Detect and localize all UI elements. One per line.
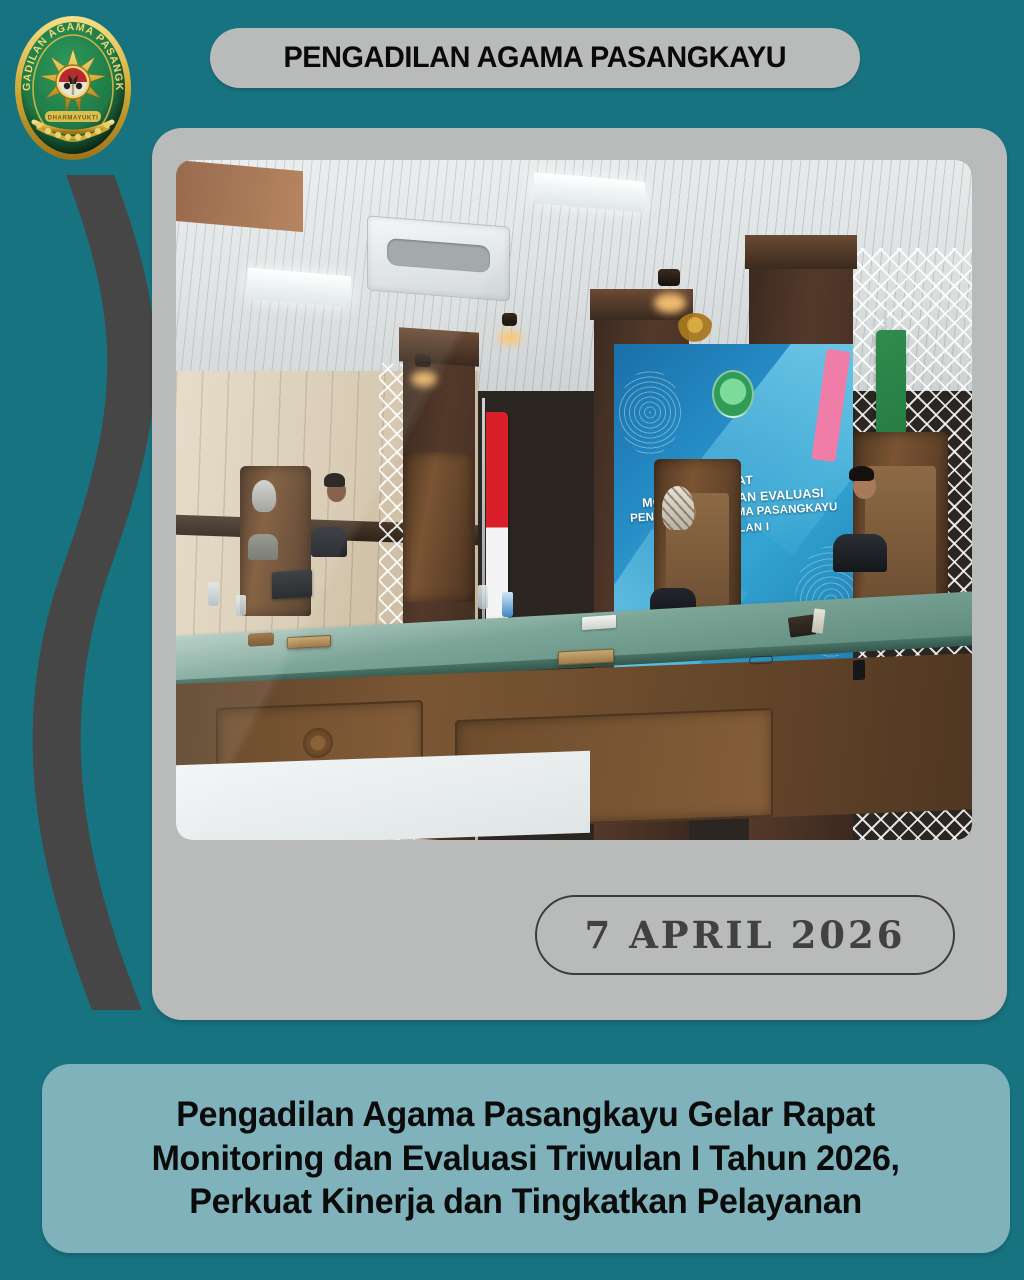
event-photo: RAPAT MONITORING DAN EVALUASI PENGADILAN… [176,160,972,840]
court-logo: PENGADILAN AGAMA PASANGKAYU [12,10,134,162]
date-text: 7 APRIL 2026 [584,913,905,957]
banner-logo-icon [712,370,754,418]
phone-icon [853,659,865,680]
caption-panel: Pengadilan Agama Pasangkayu Gelar Rapat … [42,1064,1010,1253]
caption-text: Pengadilan Agama Pasangkayu Gelar Rapat … [127,1093,926,1223]
caption-line-3: Perkuat Kinerja dan Tingkatkan Pelayanan [152,1180,900,1223]
garuda-emblem-icon [677,313,713,343]
caption-line-2: Monitoring dan Evaluasi Triwulan I Tahun… [152,1137,900,1180]
caption-line-1: Pengadilan Agama Pasangkayu Gelar Rapat [152,1093,900,1136]
wave-decoration [30,175,160,1010]
laptop-icon [272,570,312,600]
page-title: PENGADILAN AGAMA PASANGKAYU [284,41,787,75]
header-title-pill: PENGADILAN AGAMA PASANGKAYU [210,28,860,88]
date-badge: 7 APRIL 2026 [535,895,955,975]
photo-card: RAPAT MONITORING DAN EVALUASI PENGADILAN… [152,128,1007,1020]
logo-motto: DHARMAYUKTI [48,116,99,122]
